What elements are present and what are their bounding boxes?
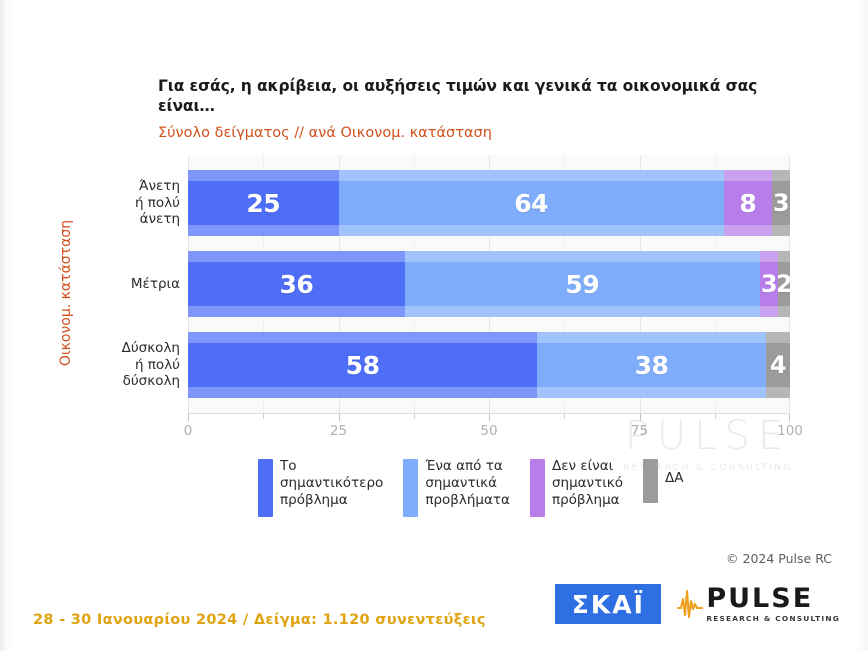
bar-value-label: 38 <box>635 351 669 380</box>
x-axis-tick <box>414 414 415 419</box>
x-axis-tick <box>640 414 641 421</box>
legend-item[interactable]: Δεν είναι σημαντικό πρόβλημα <box>530 458 623 517</box>
x-axis-tick <box>188 414 189 421</box>
bar-segment: 4 <box>766 332 790 398</box>
legend-swatch <box>258 459 273 517</box>
legend-swatch <box>530 459 545 517</box>
x-axis-tick <box>789 414 790 421</box>
x-axis-tick-label: 50 <box>480 423 497 439</box>
x-axis-tick-label: 75 <box>631 423 648 439</box>
x-axis-tick <box>339 414 340 421</box>
survey-footnote: 28 - 30 Ιανουαρίου 2024 / Δείγμα: 1.120 … <box>33 612 486 628</box>
skai-logo: ΣΚΑΪ <box>555 584 661 624</box>
plot-area: PULSE RESEARCH & CONSULTING 256483365932… <box>188 155 790 413</box>
bar-value-label: 25 <box>246 189 280 218</box>
bar-value-label: 36 <box>279 270 313 299</box>
bar-value-label: 59 <box>565 270 599 299</box>
bar-value-label: 3 <box>773 189 789 217</box>
bar-row: 365932 <box>188 251 790 317</box>
category-label: Μέτρια <box>60 251 180 317</box>
legend-item[interactable]: Το σημαντικότερο πρόβλημα <box>258 458 383 517</box>
bar-segment: 25 <box>188 170 339 236</box>
poll-chart-page: Για εσάς, η ακρίβεια, οι αυξήσεις τιμών … <box>0 0 868 651</box>
copyright-text: © 2024 Pulse RC <box>726 551 832 566</box>
bar-segment: 59 <box>405 251 760 317</box>
bar-row: 58384 <box>188 332 790 398</box>
bar-row: 256483 <box>188 170 790 236</box>
x-axis-tick <box>564 414 565 419</box>
legend-swatch <box>643 459 658 503</box>
bar-segment: 58 <box>188 332 537 398</box>
bar-segment: 38 <box>537 332 766 398</box>
bar-value-label: 2 <box>778 270 790 298</box>
bar-segment: 3 <box>772 170 790 236</box>
bar-value-label: 4 <box>770 351 786 379</box>
legend-label: Ένα από τα σημαντικά προβλήματα <box>425 458 510 509</box>
skai-logo-text: ΣΚΑΪ <box>572 592 645 617</box>
x-axis-tick <box>263 414 264 419</box>
category-label: Δύσκοληή πολύδύσκολη <box>60 332 180 398</box>
bar-value-label: 58 <box>346 351 380 380</box>
legend-swatch <box>403 459 418 517</box>
category-label-line: Άνετη <box>139 178 180 194</box>
legend-item[interactable]: Ένα από τα σημαντικά προβλήματα <box>403 458 510 517</box>
pulse-logo: PULSE RESEARCH & CONSULTING <box>677 585 840 622</box>
category-label-line: Μέτρια <box>131 276 180 292</box>
pulse-logo-subtitle: RESEARCH & CONSULTING <box>706 615 840 622</box>
pulse-logo-text-group: PULSE RESEARCH & CONSULTING <box>706 585 840 622</box>
chart-header: Για εσάς, η ακρίβεια, οι αυξήσεις τιμών … <box>158 76 758 142</box>
legend-label: Δεν είναι σημαντικό πρόβλημα <box>552 458 623 509</box>
bar-value-label: 3 <box>761 270 777 298</box>
bar-value-label: 64 <box>514 189 548 218</box>
pulse-waveform-icon <box>677 587 703 621</box>
chart-legend: Το σημαντικότερο πρόβλημαΈνα από τα σημα… <box>258 458 684 517</box>
legend-label: Το σημαντικότερο πρόβλημα <box>280 458 383 509</box>
bar-segment: 8 <box>724 170 772 236</box>
x-axis-tick <box>489 414 490 421</box>
legend-item[interactable]: ΔΑ <box>643 458 683 503</box>
category-label-line: ή πολύ <box>135 195 180 211</box>
category-label-line: Δύσκολη <box>122 340 180 356</box>
chart-subtitle: Σύνολο δείγματος // ανά Οικονομ. κατάστα… <box>158 124 758 142</box>
bar-segment: 64 <box>339 170 724 236</box>
x-axis-tick-label: 0 <box>184 423 193 439</box>
category-labels: Άνετηή πολύάνετηΜέτριαΔύσκοληή πολύδύσκο… <box>50 155 180 413</box>
category-label: Άνετηή πολύάνετη <box>60 170 180 236</box>
category-label-line: ή πολύ <box>135 357 180 373</box>
bar-segment: 3 <box>760 251 778 317</box>
x-axis-tick-label: 25 <box>330 423 347 439</box>
x-axis-tick <box>715 414 716 419</box>
category-label-line: δύσκολη <box>123 373 180 389</box>
bar-segment: 36 <box>188 251 405 317</box>
category-label-line: άνετη <box>140 211 180 227</box>
legend-label: ΔΑ <box>665 458 683 487</box>
chart-title: Για εσάς, η ακρίβεια, οι αυξήσεις τιμών … <box>158 76 758 117</box>
x-axis-tick-label: 100 <box>777 423 803 439</box>
bar-value-label: 8 <box>739 189 756 218</box>
logo-group: ΣΚΑΪ PULSE RESEARCH & CONSULTING <box>555 584 840 624</box>
x-axis: 0255075100 <box>188 414 790 440</box>
pulse-logo-text: PULSE <box>706 585 840 612</box>
bar-segment: 2 <box>778 251 790 317</box>
